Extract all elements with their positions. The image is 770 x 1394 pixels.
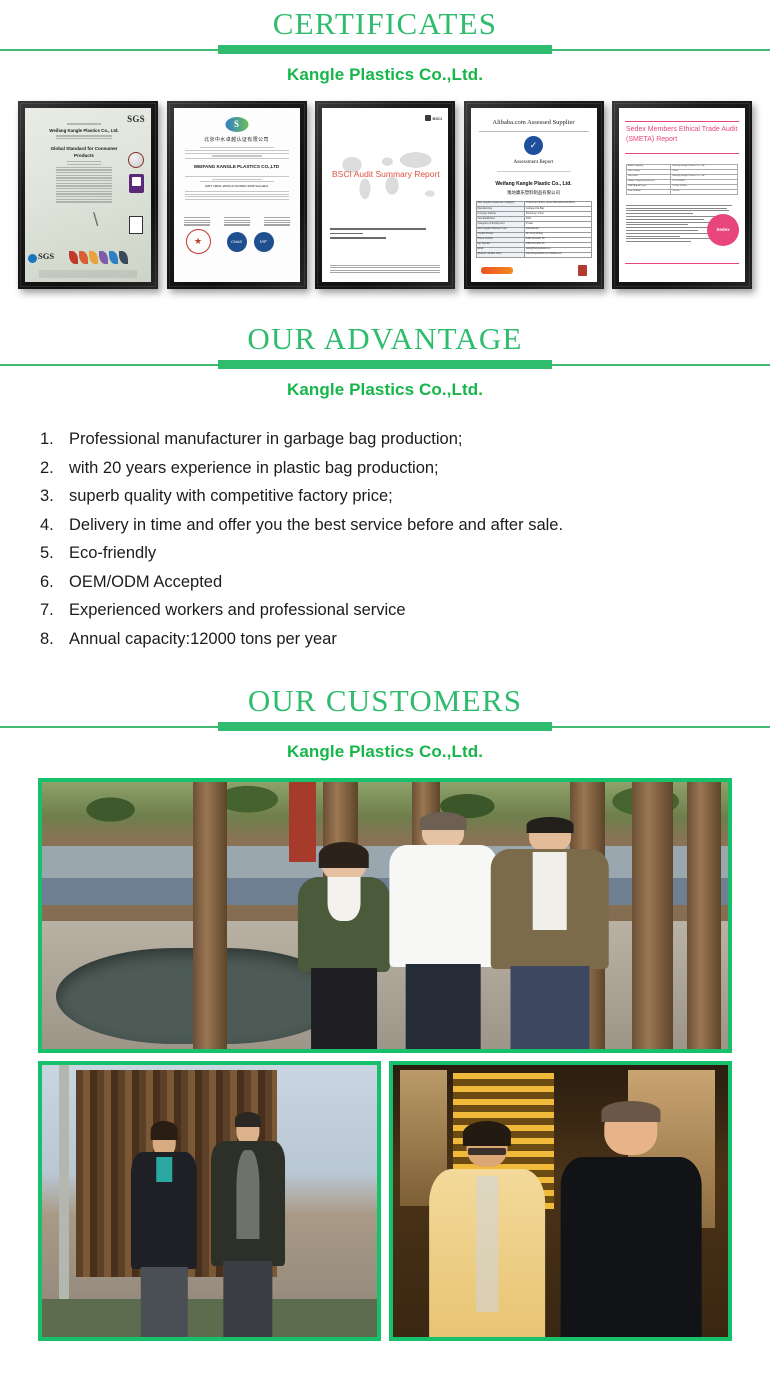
list-item: 1. Professional manufacturer in garbage … (40, 425, 730, 454)
list-item-text: Eco-friendly (69, 544, 156, 562)
divider-thick-bar (218, 722, 552, 731)
list-item: 5. Eco-friendly (40, 539, 730, 568)
sgs-chevron-1-icon (69, 251, 78, 264)
sgs-chevron-4-icon (99, 251, 108, 264)
page-title-advantage: OUR ADVANTAGE (0, 315, 770, 359)
certificate-sedex-frame[interactable]: Sedex Members Ethical Trade Audit (SMETA… (612, 101, 752, 289)
person-man-grey-sweater (210, 1114, 287, 1337)
divider-customers (0, 722, 770, 732)
sgs-body-text: Weifang Kangle Plastics Co., Ltd. Global… (47, 122, 121, 204)
bsci-producer-meta (330, 225, 434, 242)
advantage-list: 1. Professional manufacturer in garbage … (40, 425, 730, 653)
list-item-text: Professional manufacturer in garbage bag… (69, 430, 463, 448)
list-item-text: OEM/ODM Accepted (69, 573, 222, 591)
iso-iaf-seal-icon (254, 232, 274, 252)
certificate-sedex-image: Sedex Members Ethical Trade Audit (SMETA… (619, 108, 745, 282)
sgs-company-line: Weifang Kangle Plastics Co., Ltd. (47, 128, 121, 134)
list-item: 8. Annual capacity:12000 tons per year (40, 625, 730, 654)
divider-advantage (0, 360, 770, 370)
list-item-number: 4. (40, 511, 65, 540)
list-item: 2. with 20 years experience in plastic b… (40, 454, 730, 483)
iso-red-star-seal-icon (186, 229, 211, 254)
glasses-icon (468, 1148, 507, 1154)
customer-photo-group-of-three-in-garden[interactable] (38, 778, 732, 1053)
customer-photo-gallery (0, 765, 770, 1341)
sedex-report-title: Sedex Members Ethical Trade Audit (SMETA… (626, 125, 738, 145)
iso-issuer-cn: 北京中水卓越认证有限公司 (174, 137, 300, 144)
list-item-number: 5. (40, 539, 65, 568)
person-man-yellow-shirt (427, 1125, 548, 1337)
certificate-iso9001-image: 北京中水卓越认证有限公司 WEIFANG KANGLE PLASTICS CO.… (174, 108, 300, 282)
sgs-chevron-6-icon (119, 251, 128, 264)
page-title-certificates: CERTIFICATES (0, 0, 770, 44)
list-item-text: Experienced workers and professional ser… (69, 601, 406, 619)
certificate-iso9001-frame[interactable]: 北京中水卓越认证有限公司 WEIFANG KANGLE PLASTICS CO.… (167, 101, 307, 289)
photo-tree-trunk (687, 782, 721, 1049)
sgs-chevron-5-icon (109, 251, 118, 264)
advantage-section-header: OUR ADVANTAGE Kangle Plastics Co.,Ltd. (0, 315, 770, 403)
alibaba-assessment-table: Main Supplier Assessment CategoryProduct… (476, 201, 592, 258)
alibaba-header: Alibaba.com Assessed Supplier (471, 118, 597, 127)
customers-section-header: OUR CUSTOMERS Kangle Plastics Co.,Ltd. (0, 677, 770, 765)
photo-tree-trunk (193, 782, 227, 1049)
sgs-signature (76, 210, 117, 228)
sgs-chevron-2-icon (79, 251, 88, 264)
list-item-text: Annual capacity:12000 tons per year (69, 630, 337, 648)
page-title-customers: OUR CUSTOMERS (0, 677, 770, 721)
alibaba-company-cn: 潍坊康乐塑料制品有限公司 (471, 190, 597, 196)
iso-company-line: WEIFANG KANGLE PLASTICS CO.,LTD (174, 164, 300, 171)
list-item-number: 6. (40, 568, 65, 597)
sedex-logo-icon: Sedex (707, 214, 739, 246)
list-item-number: 3. (40, 482, 65, 511)
alibaba-stamp-icon (578, 265, 587, 276)
person-man-black-polo (561, 1103, 702, 1337)
sgs-standard-line: Global Standard for Consumer Products (47, 146, 121, 159)
list-item-number: 7. (40, 596, 65, 625)
customer-photo-pair-outdoors[interactable] (38, 1061, 381, 1341)
certificates-section-header: CERTIFICATES Kangle Plastics Co.,Ltd. (0, 0, 770, 88)
person-woman-dark-coat (129, 1125, 199, 1337)
list-item-text: Delivery in time and offer you the best … (69, 516, 563, 534)
alibaba-company-en: Weifang Kangle Plastic Co., Ltd. (471, 181, 597, 188)
sedex-summary-table: Audit CompanyWeifang Kangle Plastics Co.… (626, 164, 738, 195)
photo-tree-trunk (632, 782, 673, 1049)
alibaba-verified-seal-icon (524, 136, 543, 155)
company-subtitle-certificates: Kangle Plastics Co.,Ltd. (0, 55, 770, 88)
customer-photo-pair-indoors[interactable] (389, 1061, 732, 1341)
sgs-footer-wordmark: SGS (38, 250, 54, 262)
list-item-number: 8. (40, 625, 65, 654)
bsci-footer-note (330, 263, 440, 275)
list-item: 6. OEM/ODM Accepted (40, 568, 730, 597)
sgs-footer-note (39, 270, 137, 278)
photo-metal-pole (59, 1065, 69, 1337)
advantage-content: 1. Professional manufacturer in garbage … (0, 403, 770, 653)
alibaba-partner-logo-icon (481, 267, 513, 274)
company-subtitle-advantage: Kangle Plastics Co.,Ltd. (0, 370, 770, 403)
person-man-brown-jacket (488, 819, 611, 1049)
sgs-logo-text: SGS (127, 113, 145, 126)
person-man-white-shirt (385, 814, 502, 1049)
list-item-text: superb quality with competitive factory … (69, 487, 393, 505)
certificate-sgs-image: SGS Weifang Kangle Plastics Co., Ltd. Gl… (25, 108, 151, 282)
certificate-sgs-frame[interactable]: SGS Weifang Kangle Plastics Co., Ltd. Gl… (18, 101, 158, 289)
list-item: 7. Experienced workers and professional … (40, 596, 730, 625)
sedex-report-subline (626, 156, 738, 160)
certificate-bsci-image: BSCI BSCI Audit Summary Report (322, 108, 448, 282)
iso-standard-line: GB/T 19001-2008 idt ISO9001:2008 Standar… (174, 184, 300, 188)
sedex-footer-note (626, 270, 738, 273)
sgs-globe-icon (28, 254, 37, 263)
list-item: 4. Delivery in time and offer you the be… (40, 511, 730, 540)
divider-certificates (0, 45, 770, 55)
divider-thick-bar (218, 45, 552, 54)
bsci-logo-icon: BSCI (425, 115, 442, 122)
divider-thick-bar (218, 360, 552, 369)
certificate-alibaba-frame[interactable]: Alibaba.com Assessed Supplier Assessment… (464, 101, 604, 289)
iso-body: WEIFANG KANGLE PLASTICS CO.,LTD GB/T 190… (174, 147, 300, 200)
list-item-number: 2. (40, 454, 65, 483)
company-subtitle-customers: Kangle Plastics Co.,Ltd. (0, 732, 770, 765)
bsci-report-title: BSCI Audit Summary Report (332, 168, 440, 180)
list-item-text: with 20 years experience in plastic bag … (69, 459, 439, 477)
alibaba-footer-logos (481, 265, 587, 276)
iso-certification-logo-icon (225, 117, 248, 132)
list-item-number: 1. (40, 425, 65, 454)
certificate-bsci-frame[interactable]: BSCI BSCI Audit Summary Report (315, 101, 455, 289)
alibaba-subheader: Assessment Report (471, 159, 597, 167)
certificate-alibaba-image: Alibaba.com Assessed Supplier Assessment… (471, 108, 597, 282)
sgs-grey-seal-icon (129, 216, 143, 234)
list-item: 3. superb quality with competitive facto… (40, 482, 730, 511)
sgs-purple-seal-icon (129, 174, 144, 193)
person-woman-green-cardigan (289, 846, 399, 1049)
iso-cnas-seal-icon (227, 232, 247, 252)
iso-signature-columns (184, 216, 290, 227)
sgs-chevron-3-icon (89, 251, 98, 264)
certificates-gallery: SGS Weifang Kangle Plastics Co., Ltd. Gl… (0, 88, 770, 289)
customer-photo-row (38, 1061, 732, 1341)
sgs-qmark-seal-icon (128, 152, 144, 168)
